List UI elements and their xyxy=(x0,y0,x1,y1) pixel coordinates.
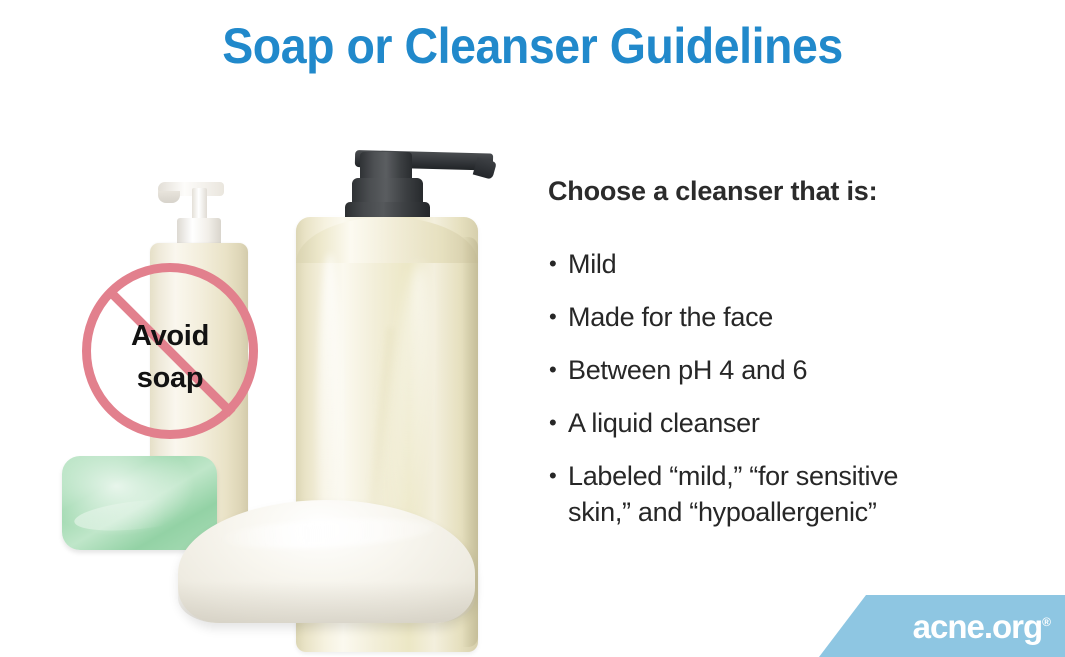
slide-canvas: Soap or Cleanser Guidelines Avoid soap xyxy=(0,0,1065,657)
list-item-label: Mild xyxy=(568,249,616,279)
bullet-marker: • xyxy=(549,352,556,388)
soap-bar-white-shadow xyxy=(178,581,475,623)
soap-bar-green xyxy=(62,456,217,550)
list-item: • Labeled “mild,” “for sensitive skin,” … xyxy=(546,458,1046,530)
bottle-shoulder-shape xyxy=(296,217,478,263)
avoid-soap-label: Avoid soap xyxy=(82,315,258,399)
subheading: Choose a cleanser that is: xyxy=(548,174,1046,208)
illustration-group: Avoid soap xyxy=(0,60,560,657)
bullet-marker: • xyxy=(549,246,556,282)
soap-bar-white-highlight xyxy=(219,514,434,552)
bullet-marker: • xyxy=(549,299,556,335)
list-item-label: Labeled “mild,” “for sensitive xyxy=(568,461,898,491)
brand-logo-text[interactable]: acne.org® xyxy=(913,602,1051,647)
bullet-marker: • xyxy=(549,405,556,441)
list-item-label: Between pH 4 and 6 xyxy=(568,355,807,385)
list-item-label-continued: skin,” and “hypoallergenic” xyxy=(568,494,1046,530)
bullet-marker: • xyxy=(549,458,556,494)
avoid-soap-label-line2: soap xyxy=(137,362,204,394)
list-item-label: A liquid cleanser xyxy=(568,408,760,438)
brand-name: acne.org xyxy=(913,608,1043,645)
list-item: • Mild xyxy=(546,246,1046,282)
list-item: • Made for the face xyxy=(546,299,1046,335)
guidelines-text-column: Choose a cleanser that is: • Mild • Made… xyxy=(546,174,1046,530)
list-item-label: Made for the face xyxy=(568,302,773,332)
avoid-soap-label-line1: Avoid xyxy=(131,320,209,352)
pump-bottle-small-head xyxy=(158,182,224,196)
registered-trademark-icon: ® xyxy=(1042,615,1051,629)
list-item: • A liquid cleanser xyxy=(546,405,1046,441)
list-item: • Between pH 4 and 6 xyxy=(546,352,1046,388)
